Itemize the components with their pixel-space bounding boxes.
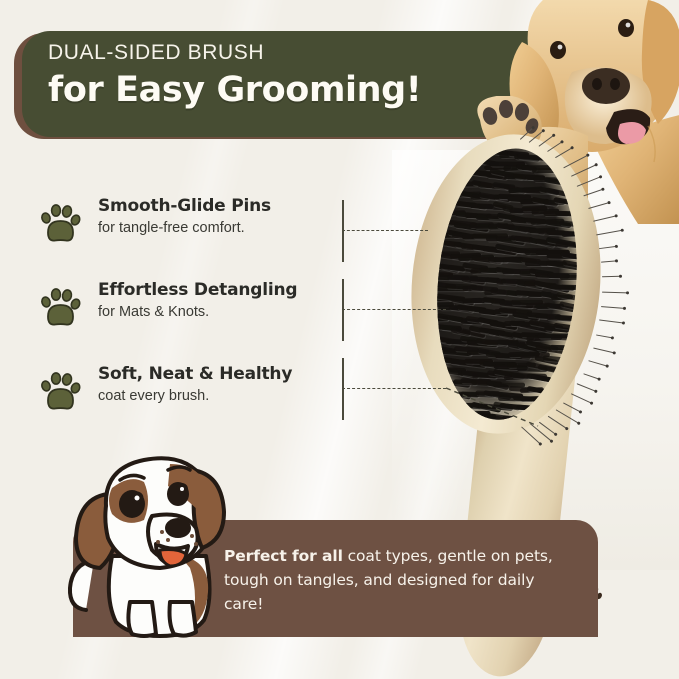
- feature-copy: Smooth-Glide Pins for tangle-free comfor…: [98, 196, 338, 238]
- feature-title: Soft, Neat & Healthy: [98, 364, 338, 385]
- bottom-banner-text: Perfect for all coat types, gentle on pe…: [224, 544, 554, 616]
- feature-item[interactable]: Soft, Neat & Healthy coat every brush.: [36, 364, 336, 448]
- feature-subtitle: for Mats & Knots.: [98, 303, 338, 322]
- feature-list: Smooth-Glide Pins for tangle-free comfor…: [36, 196, 336, 448]
- page-title: for Easy Grooming!: [48, 72, 568, 109]
- feature-item[interactable]: Smooth-Glide Pins for tangle-free comfor…: [36, 196, 336, 280]
- feature-subtitle: for tangle-free comfort.: [98, 219, 338, 238]
- feature-title: Smooth-Glide Pins: [98, 196, 338, 217]
- feature-subtitle: coat every brush.: [98, 387, 338, 406]
- cartoon-puppy-illustration: [60, 452, 242, 638]
- paw-icon: [38, 202, 82, 244]
- paw-icon: [38, 370, 82, 412]
- feature-item[interactable]: Effortless Detangling for Mats & Knots.: [36, 280, 336, 364]
- feature-copy: Effortless Detangling for Mats & Knots.: [98, 280, 338, 322]
- feature-copy: Soft, Neat & Healthy coat every brush.: [98, 364, 338, 406]
- infographic-canvas: DUAL-SIDED BRUSH for Easy Grooming!: [0, 0, 679, 679]
- feature-title: Effortless Detangling: [98, 280, 338, 301]
- header-text-group: DUAL-SIDED BRUSH for Easy Grooming!: [48, 42, 568, 109]
- header-kicker: DUAL-SIDED BRUSH: [48, 42, 568, 63]
- paw-icon: [38, 286, 82, 328]
